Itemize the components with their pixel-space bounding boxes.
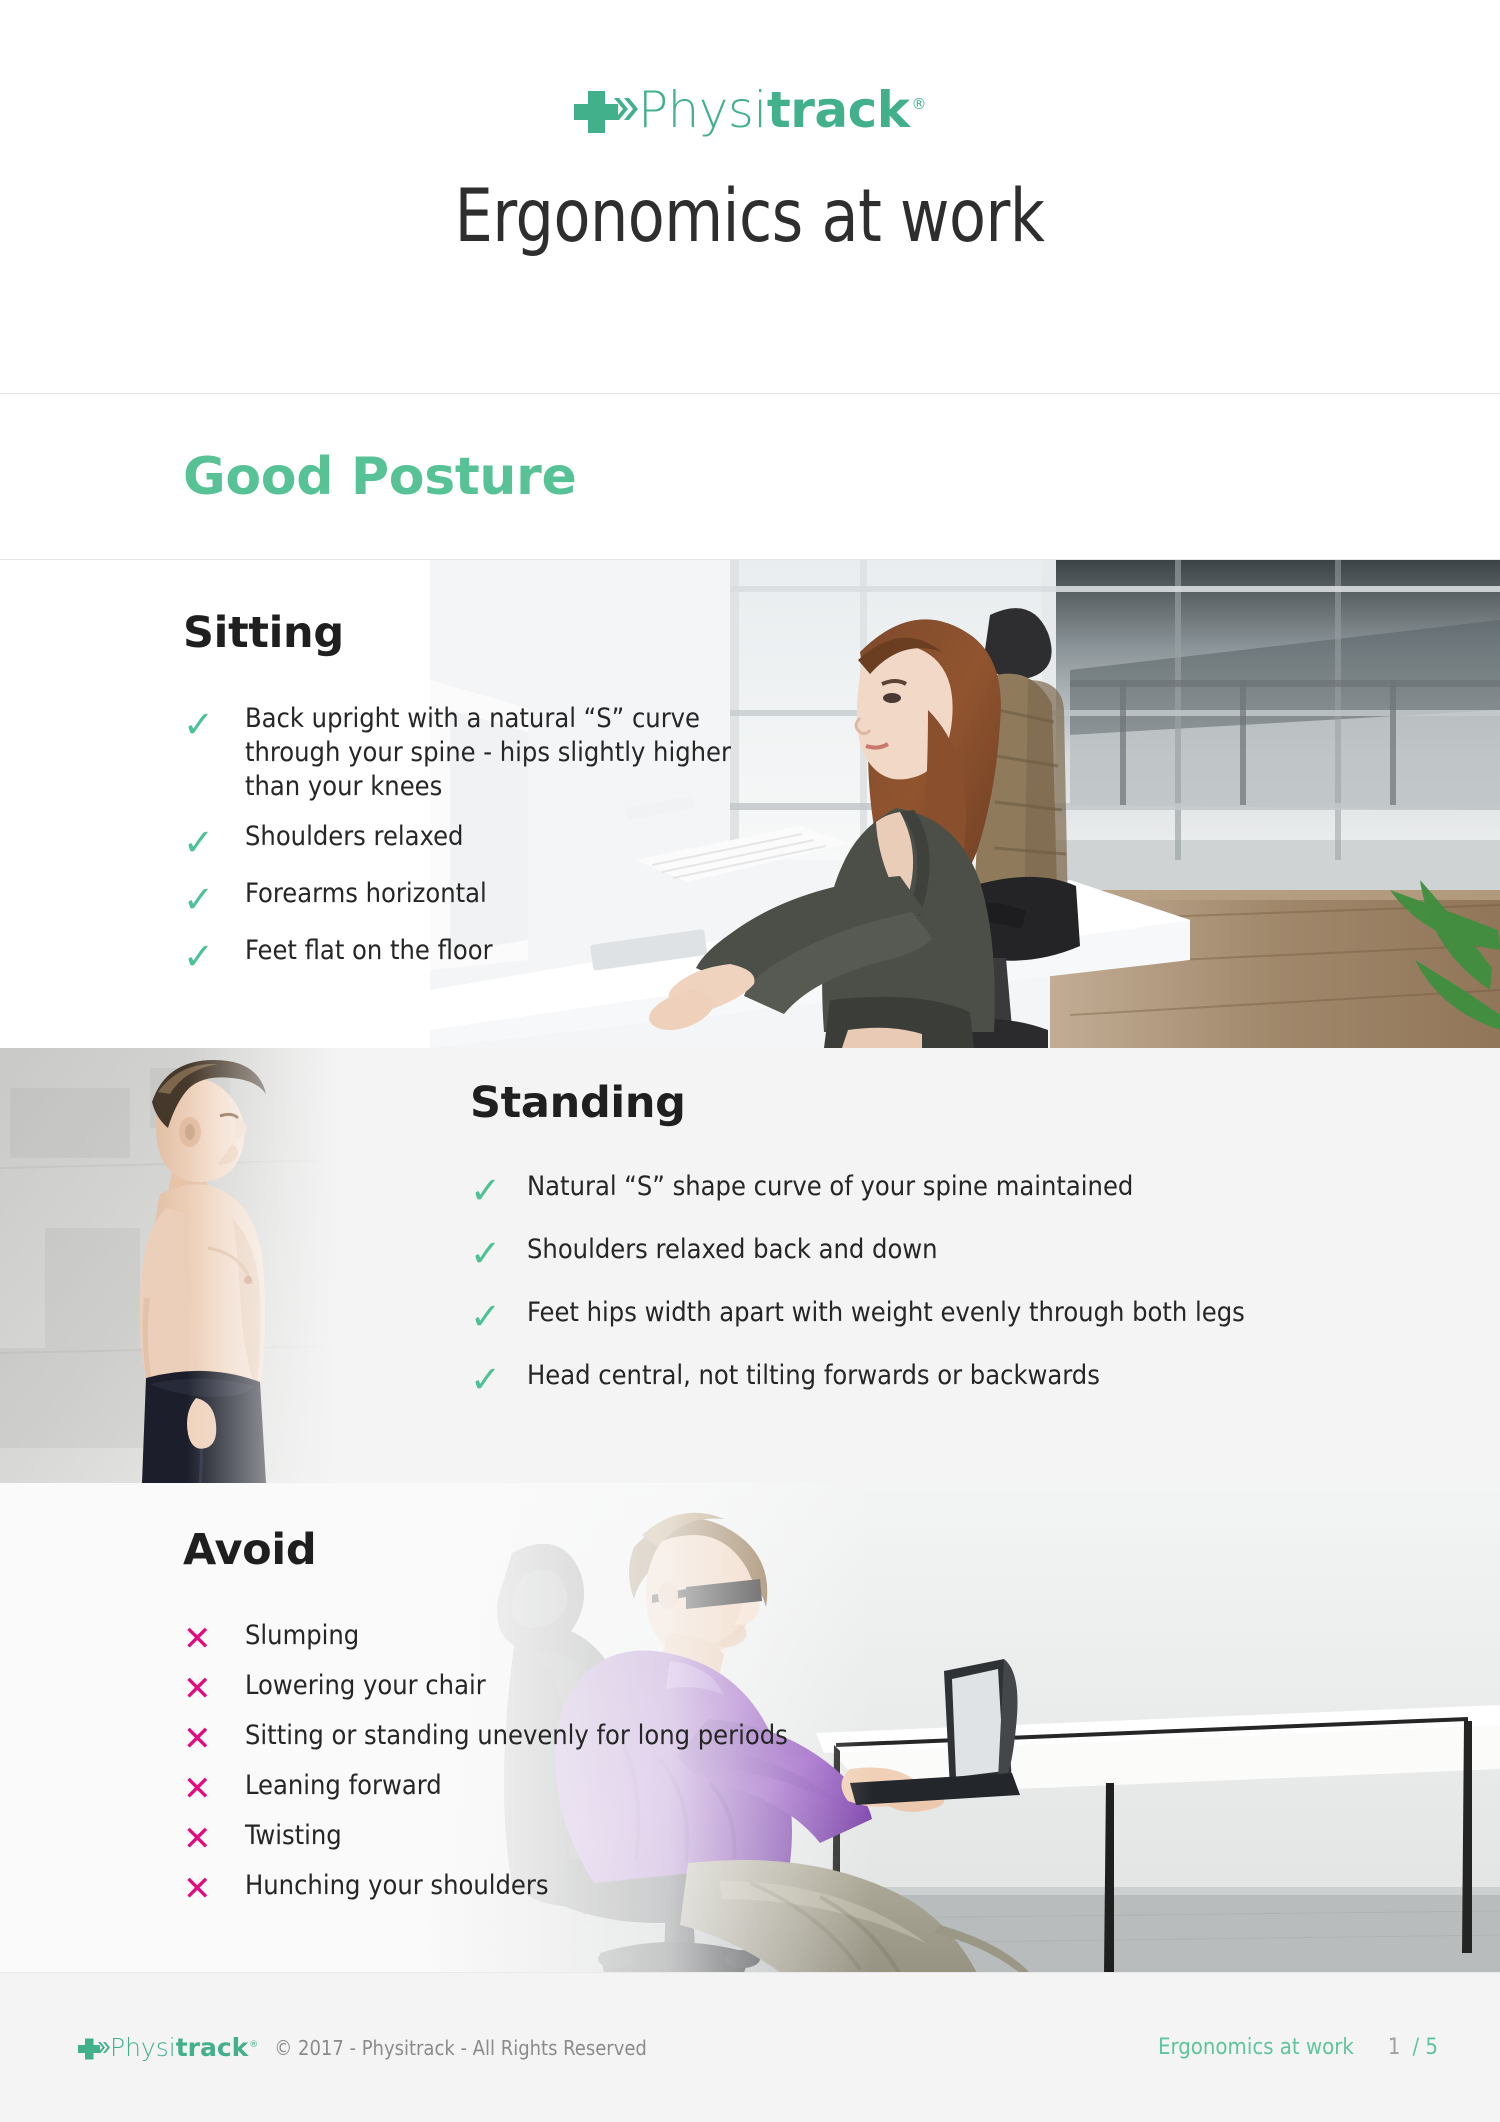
- page-footer: Physitrack® © 2017 - Physitrack - All Ri…: [0, 1972, 1500, 2122]
- check-icon: ✓: [470, 1298, 527, 1335]
- brand-wordmark: Physitrack®: [638, 81, 926, 139]
- avoid-list: ✕ Slumping ✕ Lowering your chair ✕ Sitti…: [183, 1619, 1500, 1906]
- check-icon: ✓: [183, 706, 245, 743]
- list-item-label: Head central, not tilting forwards or ba…: [527, 1359, 1100, 1393]
- check-icon: ✓: [183, 824, 245, 861]
- check-icon: ✓: [470, 1172, 527, 1209]
- list-item-label: Twisting: [245, 1819, 342, 1853]
- cross-icon: ✕: [183, 1622, 245, 1656]
- registered-mark: ®: [912, 95, 927, 113]
- check-icon: ✓: [183, 938, 245, 975]
- list-item-label: Feet hips width apart with weight evenly…: [527, 1296, 1245, 1330]
- cross-icon: ✕: [183, 1872, 245, 1906]
- list-item: ✓ Natural “S” shape curve of your spine …: [470, 1170, 1500, 1209]
- subsection-heading-standing: Standing: [470, 1078, 1500, 1128]
- list-item-label: Back upright with a natural “S” curve th…: [245, 702, 765, 804]
- sitting-list: ✓ Back upright with a natural “S” curve …: [183, 702, 1500, 975]
- check-icon: ✓: [470, 1361, 527, 1398]
- section-standing: Standing ✓ Natural “S” shape curve of yo…: [0, 1048, 1500, 1483]
- brand-name-light: Physi: [638, 81, 767, 139]
- list-item: ✓ Forearms horizontal: [183, 877, 1500, 918]
- standing-content: Standing ✓ Natural “S” shape curve of yo…: [0, 1048, 1500, 1483]
- physitrack-cross-icon: [78, 2035, 110, 2061]
- page-header: Physitrack® Ergonomics at work: [0, 0, 1500, 394]
- list-item: ✓ Feet flat on the floor: [183, 934, 1500, 975]
- avoid-content: Avoid ✕ Slumping ✕ Lowering your chair ✕…: [0, 1483, 1500, 1973]
- section-sitting: Sitting ✓ Back upright with a natural “S…: [0, 560, 1500, 1048]
- check-icon: ✓: [183, 881, 245, 918]
- registered-mark: ®: [249, 2040, 258, 2050]
- list-item: ✓ Shoulders relaxed back and down: [470, 1233, 1500, 1272]
- section-heading-good-posture: Good Posture: [183, 447, 576, 507]
- page-title: Ergonomics at work: [455, 174, 1045, 259]
- list-item: ✕ Leaning forward: [183, 1769, 1500, 1806]
- list-item-label: Sitting or standing unevenly for long pe…: [245, 1719, 788, 1753]
- list-item: ✕ Twisting: [183, 1819, 1500, 1856]
- list-item: ✕ Lowering your chair: [183, 1669, 1500, 1706]
- footer-document-title: Ergonomics at work: [1158, 2035, 1354, 2060]
- check-icon: ✓: [470, 1235, 527, 1272]
- list-item-label: Lowering your chair: [245, 1669, 486, 1703]
- page-number: 1: [1388, 2035, 1401, 2060]
- physitrack-cross-icon: [574, 85, 638, 135]
- list-item: ✓ Feet hips width apart with weight even…: [470, 1296, 1500, 1335]
- list-item: ✓ Back upright with a natural “S” curve …: [183, 702, 1500, 804]
- list-item: ✕ Sitting or standing unevenly for long …: [183, 1719, 1500, 1756]
- list-item-label: Hunching your shoulders: [245, 1869, 549, 1903]
- list-item: ✕ Hunching your shoulders: [183, 1869, 1500, 1906]
- list-item-label: Shoulders relaxed: [245, 820, 463, 854]
- cross-icon: ✕: [183, 1672, 245, 1706]
- cross-icon: ✕: [183, 1772, 245, 1806]
- cross-icon: ✕: [183, 1822, 245, 1856]
- brand-logo: Physitrack®: [574, 84, 926, 136]
- good-posture-band: Good Posture: [0, 394, 1500, 560]
- page-total: / 5: [1412, 2035, 1438, 2060]
- cross-icon: ✕: [183, 1722, 245, 1756]
- list-item-label: Feet flat on the floor: [245, 934, 493, 968]
- list-item-label: Slumping: [245, 1619, 359, 1653]
- list-item-label: Leaning forward: [245, 1769, 442, 1803]
- brand-name-light: Physi: [110, 2033, 176, 2062]
- footer-meta: Ergonomics at work 1 / 5: [1158, 2035, 1438, 2060]
- section-avoid: Avoid ✕ Slumping ✕ Lowering your chair ✕…: [0, 1483, 1500, 1973]
- page-indicator: 1 / 5: [1388, 2035, 1438, 2060]
- subsection-heading-sitting: Sitting: [183, 608, 1500, 658]
- brand-name-bold: track: [767, 81, 910, 139]
- list-item-label: Shoulders relaxed back and down: [527, 1233, 938, 1267]
- copyright-text: © 2017 - Physitrack - All Rights Reserve…: [274, 2036, 647, 2060]
- list-item: ✕ Slumping: [183, 1619, 1500, 1656]
- brand-name-bold: track: [176, 2033, 249, 2062]
- footer-brand: Physitrack® © 2017 - Physitrack - All Ri…: [78, 2033, 647, 2062]
- subsection-heading-avoid: Avoid: [183, 1525, 1500, 1575]
- list-item: ✓ Head central, not tilting forwards or …: [470, 1359, 1500, 1398]
- list-item-label: Forearms horizontal: [245, 877, 487, 911]
- list-item: ✓ Shoulders relaxed: [183, 820, 1500, 861]
- footer-wordmark: Physitrack®: [110, 2033, 258, 2062]
- list-item-label: Natural “S” shape curve of your spine ma…: [527, 1170, 1133, 1204]
- standing-list: ✓ Natural “S” shape curve of your spine …: [470, 1170, 1500, 1398]
- sitting-content: Sitting ✓ Back upright with a natural “S…: [0, 560, 1500, 1048]
